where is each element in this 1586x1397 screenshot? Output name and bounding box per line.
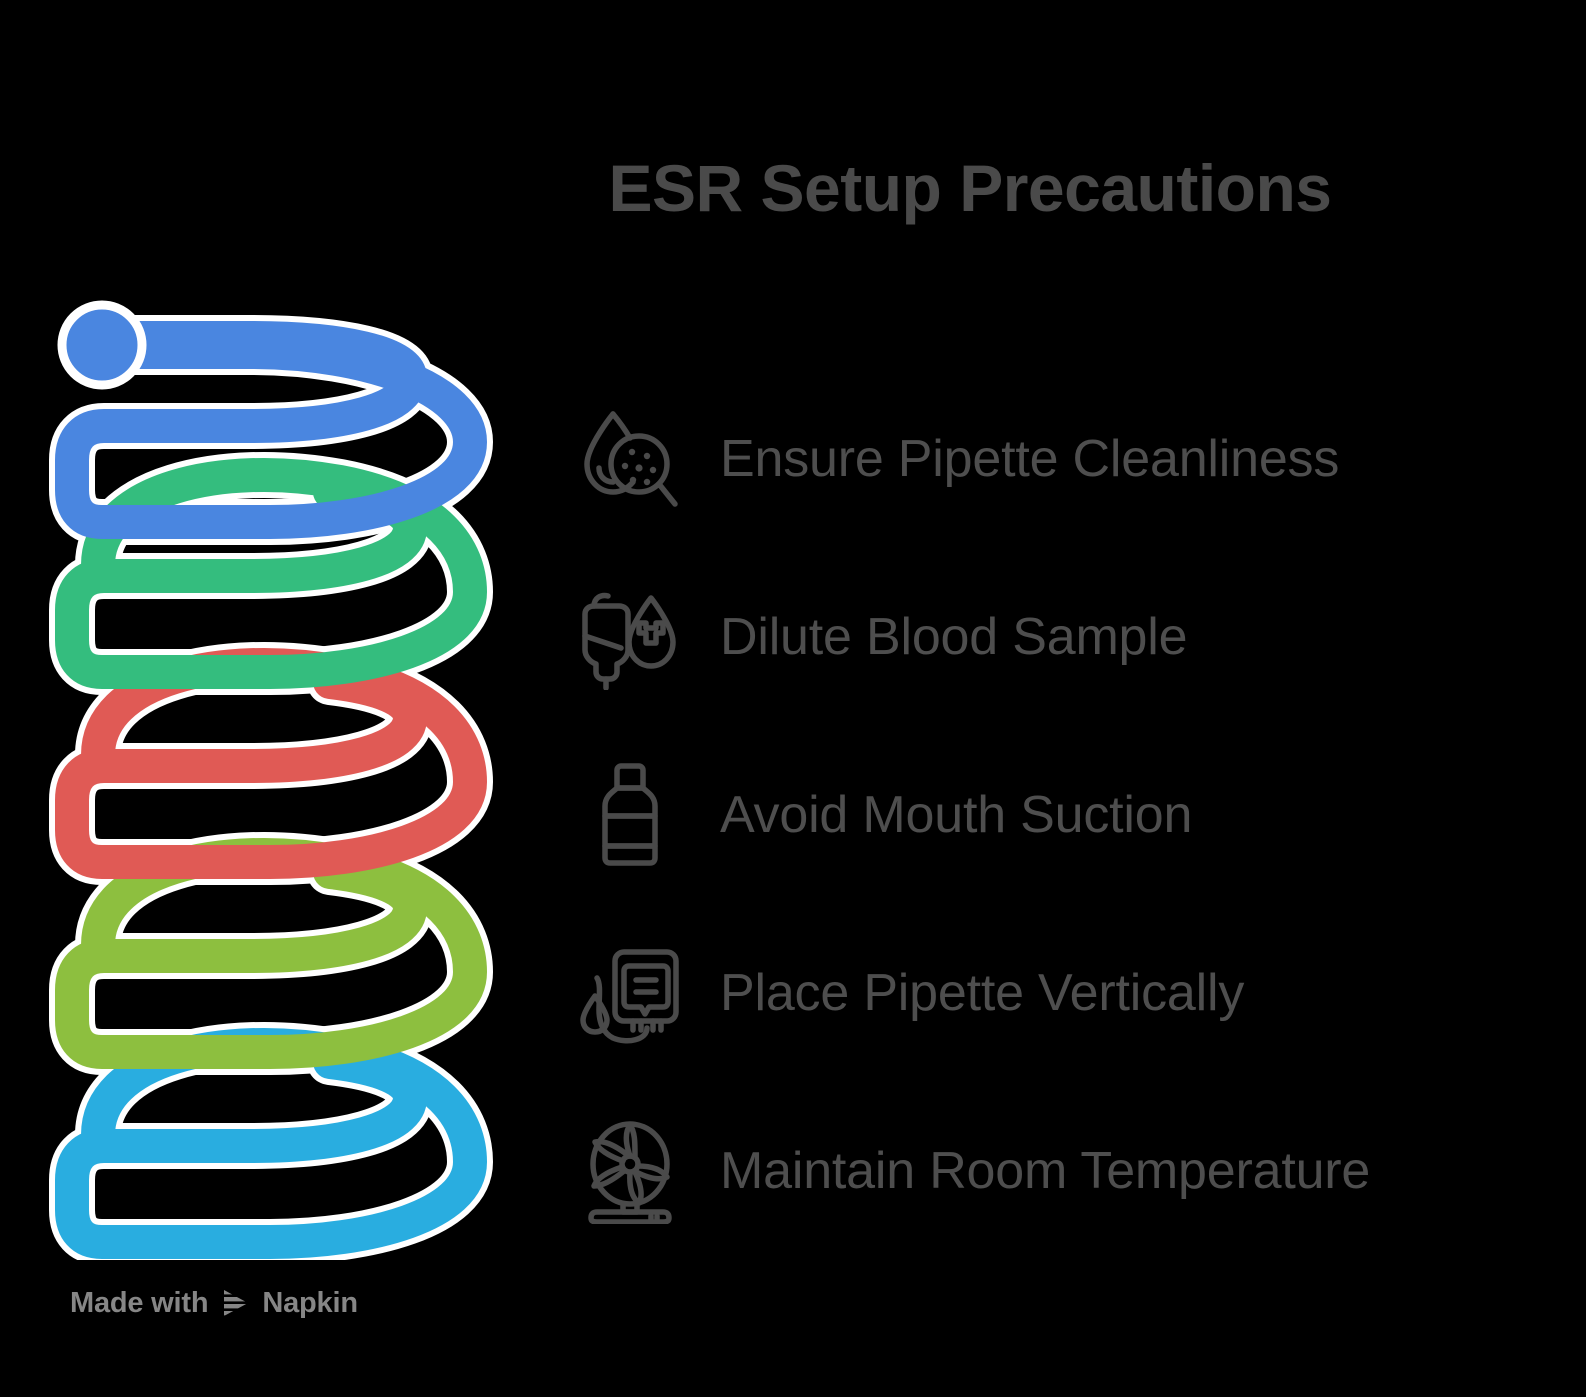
iv-bag-blood-drop-icon: [570, 584, 690, 690]
list-item-label: Avoid Mouth Suction: [690, 785, 1192, 845]
coil-end-cap-icon: [62, 305, 142, 385]
list-item[interactable]: Dilute Blood Sample: [570, 548, 1560, 726]
mouthwash-bottle-icon: [570, 762, 690, 868]
watermark-prefix: Made with: [70, 1287, 208, 1320]
infographic-canvas: ESR Setup Precautions: [0, 0, 1586, 1397]
list-item-label: Place Pipette Vertically: [690, 963, 1244, 1023]
watermark-brand: Napkin: [262, 1287, 358, 1320]
napkin-watermark: Made with Napkin: [70, 1286, 358, 1320]
spiral-coil-svg: [40, 290, 510, 1260]
list-item[interactable]: Place Pipette Vertically: [570, 904, 1560, 1082]
list-item[interactable]: Maintain Room Temperature: [570, 1082, 1560, 1260]
list-item-label: Maintain Room Temperature: [690, 1141, 1370, 1201]
blood-bag-tube-icon: [570, 940, 690, 1046]
napkin-striped-triangle-icon: [218, 1286, 252, 1320]
list-item-label: Ensure Pipette Cleanliness: [690, 429, 1339, 489]
precaution-list: Ensure Pipette Cleanliness Dilute Blood …: [570, 370, 1560, 1260]
pedestal-fan-icon: [570, 1118, 690, 1224]
spiral-coil-graphic: [40, 290, 510, 1260]
list-item[interactable]: Avoid Mouth Suction: [570, 726, 1560, 904]
droplet-magnifier-icon: [570, 406, 690, 512]
list-item-label: Dilute Blood Sample: [690, 607, 1187, 667]
list-item[interactable]: Ensure Pipette Cleanliness: [570, 370, 1560, 548]
page-title: ESR Setup Precautions: [500, 152, 1440, 225]
